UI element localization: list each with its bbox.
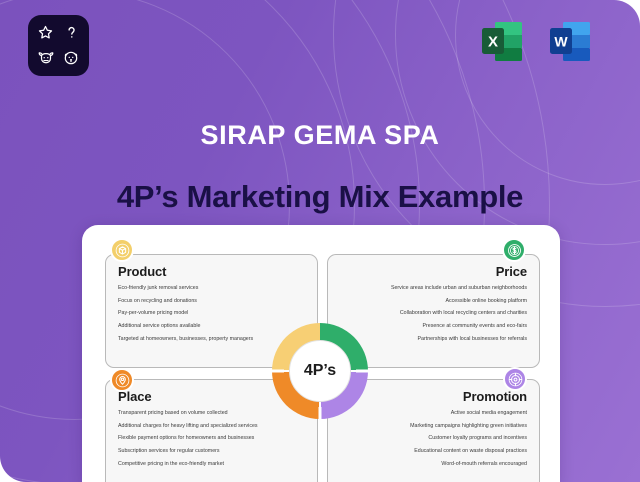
question-mark-icon xyxy=(60,22,82,44)
package-box-icon xyxy=(110,238,134,262)
dollar-coin-icon xyxy=(502,238,526,262)
list-item: Eco-friendly junk removal services xyxy=(118,286,305,291)
list-item: Competitive pricing in the eco-friendly … xyxy=(118,462,305,467)
list-item: Accessible online booking platform xyxy=(340,299,527,304)
cow-icon xyxy=(35,47,57,69)
svg-text:W: W xyxy=(554,34,568,50)
excel-icon[interactable]: X xyxy=(478,17,527,66)
quadrant-list-promotion: Active social media engagement Marketing… xyxy=(340,411,527,467)
location-pin-icon xyxy=(110,368,134,392)
word-icon[interactable]: W xyxy=(546,17,595,66)
svg-text:X: X xyxy=(488,34,498,51)
list-item: Partnerships with local businesses for r… xyxy=(340,337,527,342)
list-item: Customer loyalty programs and incentives xyxy=(340,436,527,441)
list-item: Educational content on waste disposal pr… xyxy=(340,449,527,454)
brand-title: SIRAP GEMA SPA xyxy=(0,120,640,151)
slide-canvas: X W SIRAP GEMA SPA 4P’s Marketing Mix Ex… xyxy=(0,0,640,482)
list-item: Additional charges for heavy lifting and… xyxy=(118,424,305,429)
list-item: Pay-per-volume pricing model xyxy=(118,311,305,316)
list-item: Service areas include urban and suburban… xyxy=(340,286,527,291)
dog-icon xyxy=(60,47,82,69)
list-item: Word-of-mouth referrals encouraged xyxy=(340,462,527,467)
list-item: Presence at community events and eco-fai… xyxy=(340,324,527,329)
star-icon xyxy=(35,22,57,44)
quadrant-list-place: Transparent pricing based on volume coll… xyxy=(118,411,305,467)
list-item: Collaboration with local recycling cente… xyxy=(340,311,527,316)
quadrant-title-promotion: Promotion xyxy=(340,389,527,404)
quadrant-title-product: Product xyxy=(118,264,305,279)
list-item: Subscription services for regular custom… xyxy=(118,449,305,454)
list-item: Marketing campaigns highlighting green i… xyxy=(340,424,527,429)
quadrant-title-price: Price xyxy=(340,264,527,279)
center-donut: 4P’s xyxy=(272,323,368,419)
page-title: 4P’s Marketing Mix Example xyxy=(0,179,640,215)
center-label: 4P’s xyxy=(289,340,351,402)
list-item: Flexible payment options for homeowners … xyxy=(118,436,305,441)
list-item: Active social media engagement xyxy=(340,411,527,416)
sirap-gema-logo[interactable] xyxy=(28,15,89,76)
list-item: Focus on recycling and donations xyxy=(118,299,305,304)
quadrant-list-price: Service areas include urban and suburban… xyxy=(340,286,527,342)
target-icon xyxy=(503,367,527,391)
